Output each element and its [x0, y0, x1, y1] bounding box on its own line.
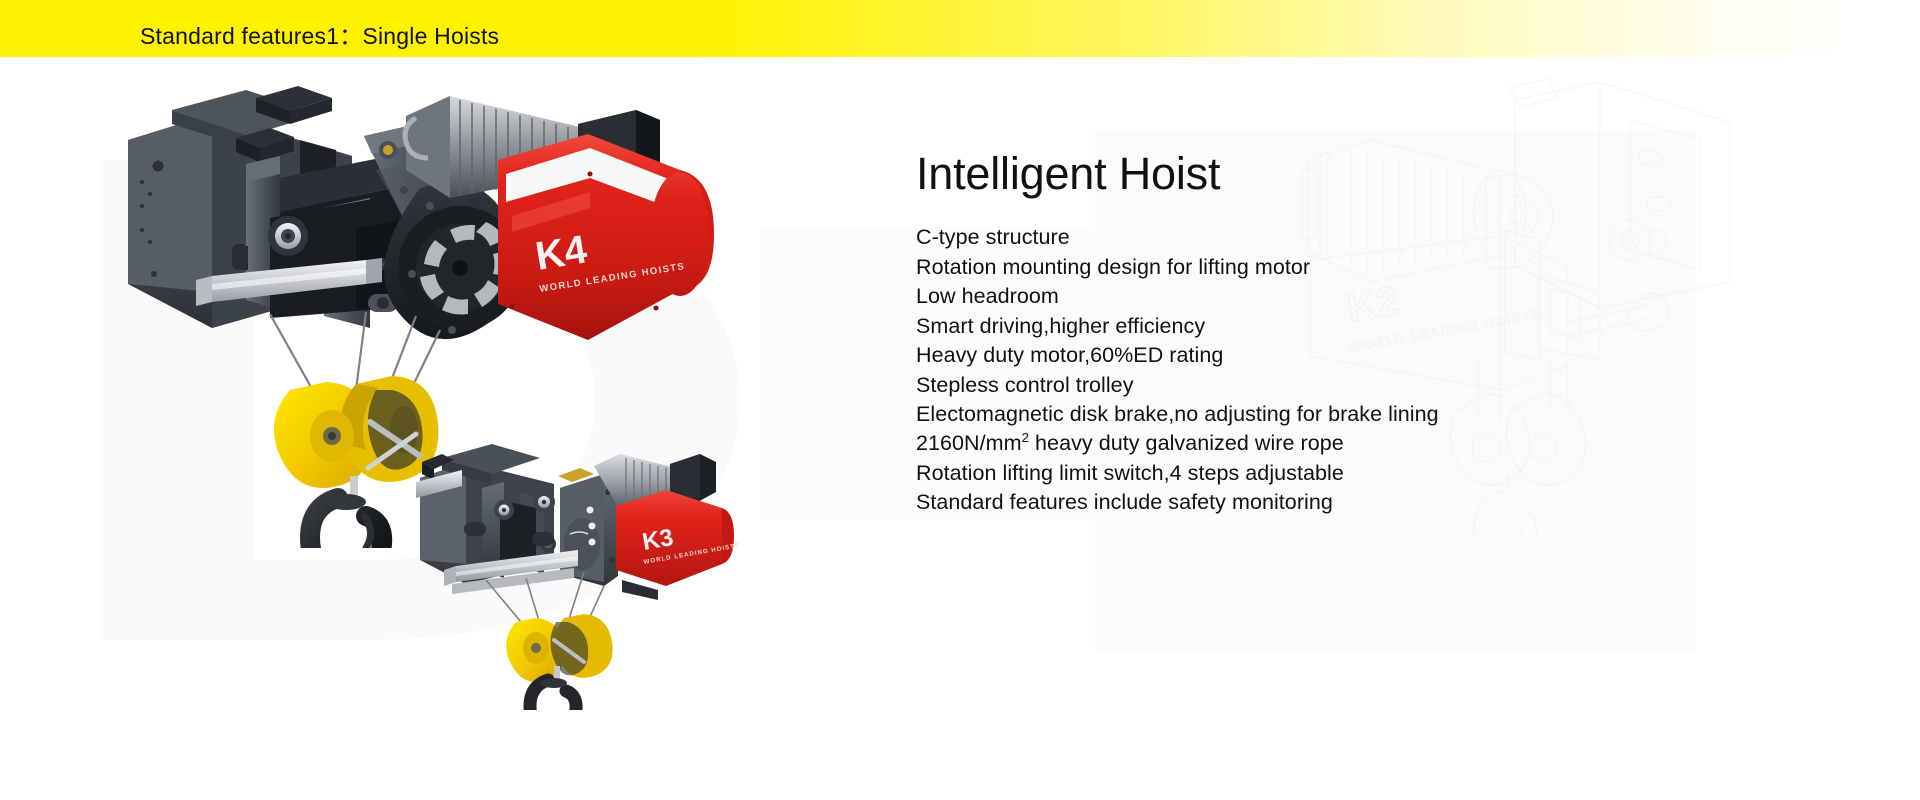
feature-item: Rotation mounting design for lifting mot…	[916, 253, 1776, 282]
top-banner: Standard features1：Single Hoists	[0, 0, 1920, 57]
feature-item: Heavy duty motor,60%ED rating	[916, 341, 1776, 370]
feature-item-wire-rope: 2160N/mm2 heavy duty galvanized wire rop…	[916, 429, 1776, 458]
k4-model-text: K4	[533, 227, 591, 279]
feature-item: Smart driving,higher efficiency	[916, 312, 1776, 341]
content-column: Intelligent Hoist C-type structure Rotat…	[916, 150, 1776, 518]
feature-item: Rotation lifting limit switch,4 steps ad…	[916, 459, 1776, 488]
wire-rope-prefix: 2160N/mm	[916, 431, 1022, 455]
feature-item: Electomagnetic disk brake,no adjusting f…	[916, 400, 1776, 429]
k3-model-text: K3	[640, 524, 675, 556]
feature-item: Low headroom	[916, 282, 1776, 311]
feature-list: C-type structure Rotation mounting desig…	[916, 223, 1776, 518]
wire-rope-suffix: heavy duty galvanized wire rope	[1029, 431, 1344, 455]
feature-item: Stepless control trolley	[916, 371, 1776, 400]
banner-title: Standard features1：Single Hoists	[140, 17, 499, 51]
feature-item: Standard features include safety monitor…	[916, 488, 1776, 517]
feature-item: C-type structure	[916, 223, 1776, 252]
wire-rope-superscript: 2	[1022, 430, 1029, 445]
page-title: Intelligent Hoist	[916, 150, 1776, 197]
product-image-k3: K3 WORLD LEADING HOISTS	[408, 440, 738, 710]
